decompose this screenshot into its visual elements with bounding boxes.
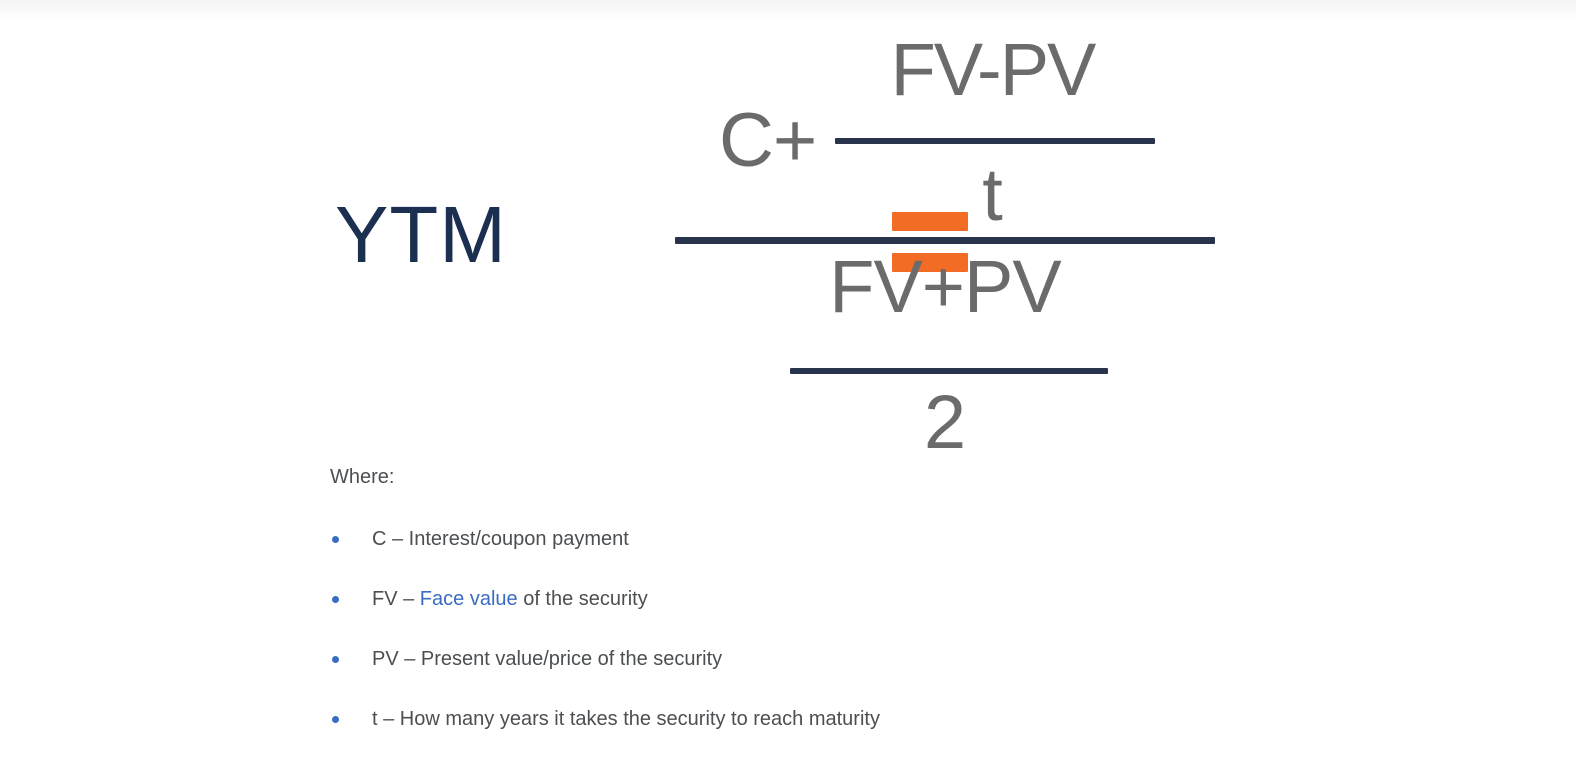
legend-item-text: t – How many years it takes the security…: [372, 708, 880, 730]
where-heading: Where:: [330, 465, 1430, 489]
outer-denominator: FV+PV 2: [675, 250, 1215, 445]
coupon-term: C+: [719, 103, 816, 179]
legend-item-text-pre: FV –: [372, 588, 420, 610]
formula-lhs-label: YTM: [335, 195, 507, 275]
legend-block: Where: C – Interest/coupon payment FV – …: [330, 465, 1430, 732]
nested-fraction-rule: [835, 138, 1155, 144]
bullet-icon: [332, 716, 339, 723]
bullet-icon: [332, 656, 339, 663]
main-fraction-rule: [675, 237, 1215, 244]
legend-item-text: PV – Present value/price of the security: [372, 648, 722, 670]
legend-item-text: C – Interest/coupon payment: [372, 528, 629, 550]
main-fraction: C+ FV-PV t FV+PV 2: [675, 15, 1215, 445]
legend-list: C – Interest/coupon payment FV – Face va…: [330, 527, 1430, 732]
nested-fraction: FV-PV t: [830, 33, 1155, 233]
face-value-link[interactable]: Face value: [420, 588, 518, 610]
list-item: FV – Face value of the security: [330, 587, 1430, 612]
denominator-denominator: 2: [675, 385, 1215, 461]
denominator-fraction-rule: [790, 368, 1108, 374]
ytm-formula-figure: YTM C+ FV-PV t FV+PV 2: [0, 0, 1576, 450]
list-item: t – How many years it takes the security…: [330, 707, 1430, 732]
bullet-icon: [332, 596, 339, 603]
nested-denominator: t: [830, 158, 1155, 232]
bullet-icon: [332, 536, 339, 543]
legend-item-text-post: of the security: [518, 588, 648, 610]
list-item: PV – Present value/price of the security: [330, 647, 1430, 672]
denominator-numerator: FV+PV: [675, 250, 1215, 324]
list-item: C – Interest/coupon payment: [330, 527, 1430, 552]
nested-numerator: FV-PV: [830, 33, 1155, 107]
formula-row: YTM C+ FV-PV t FV+PV 2: [330, 10, 1230, 440]
outer-numerator: C+ FV-PV t: [675, 15, 1215, 235]
